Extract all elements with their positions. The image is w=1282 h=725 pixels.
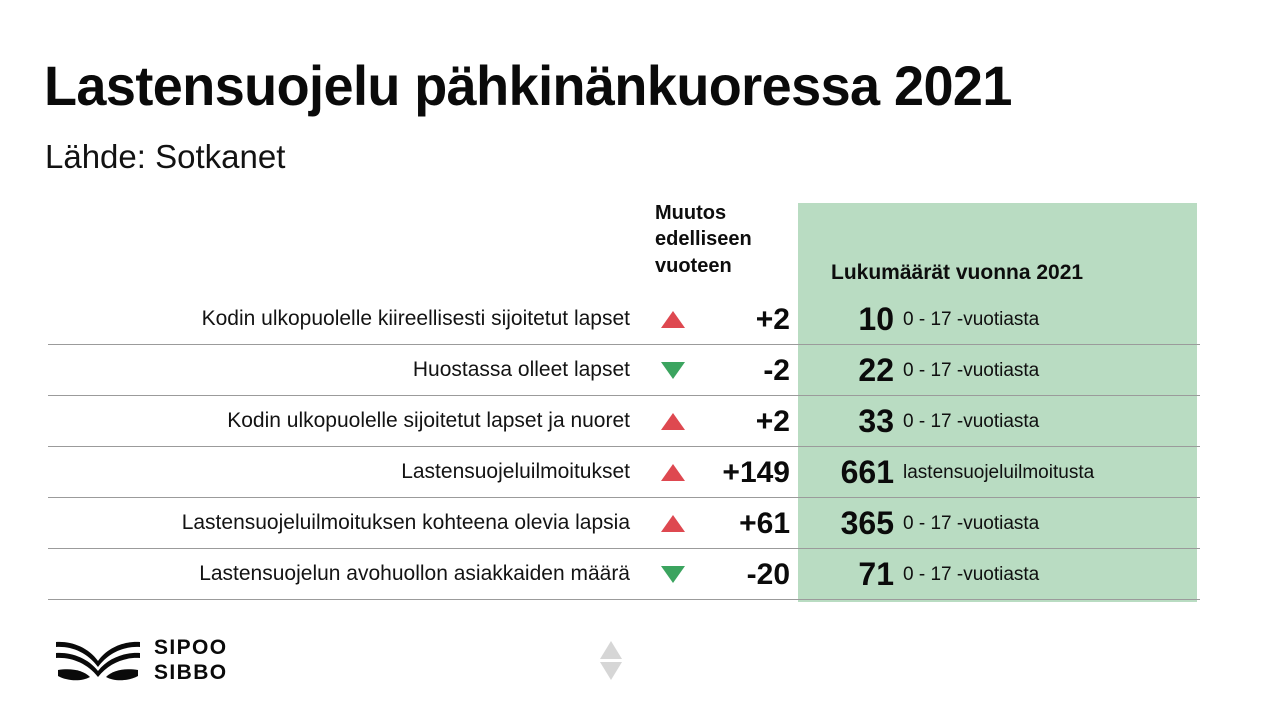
- row-change-value: +61: [630, 498, 790, 549]
- row-label: Huostassa olleet lapset: [60, 345, 630, 396]
- row-change-value: -20: [630, 549, 790, 600]
- row-change-value: +2: [630, 294, 790, 345]
- row-count-value: 22: [800, 345, 894, 396]
- column-header-change-line3: vuoteen: [655, 253, 795, 279]
- sort-updown-icon[interactable]: [596, 641, 626, 681]
- column-header-count: Lukumäärät vuonna 2021: [831, 261, 1083, 285]
- table-row: Lastensuojeluilmoitukset +149 661 lasten…: [0, 447, 1282, 498]
- row-count-value: 71: [800, 549, 894, 600]
- column-header-change-line2: edelliseen: [655, 226, 795, 252]
- sipoo-wave-logo-icon: [55, 637, 141, 685]
- row-divider: [48, 599, 1200, 600]
- sipoo-sibbo-logo: SIPOO SIBBO: [55, 636, 228, 686]
- row-label: Lastensuojeluilmoituksen kohteena olevia…: [60, 498, 630, 549]
- row-label: Lastensuojeluilmoitukset: [60, 447, 630, 498]
- table-row: Huostassa olleet lapset -2 22 0 - 17 -vu…: [0, 345, 1282, 396]
- row-count-value: 10: [800, 294, 894, 345]
- row-unit-label: 0 - 17 -vuotiasta: [903, 498, 1039, 549]
- sort-down-arrow-icon[interactable]: [600, 662, 622, 680]
- row-label: Lastensuojelun avohuollon asiakkaiden mä…: [60, 549, 630, 600]
- row-count-value: 661: [800, 447, 894, 498]
- row-label: Kodin ulkopuolelle sijoitetut lapset ja …: [60, 396, 630, 447]
- row-count-value: 365: [800, 498, 894, 549]
- row-unit-label: lastensuojeluilmoitusta: [903, 447, 1094, 498]
- row-change-value: +2: [630, 396, 790, 447]
- table-row: Kodin ulkopuolelle kiireellisesti sijoit…: [0, 294, 1282, 345]
- logo-wordmark-line2: SIBBO: [154, 661, 228, 686]
- sort-up-arrow-icon[interactable]: [600, 641, 622, 659]
- column-header-change-line1: Muutos: [655, 200, 795, 226]
- row-unit-label: 0 - 17 -vuotiasta: [903, 396, 1039, 447]
- page-title: Lastensuojelu pähkinänkuoressa 2021: [44, 57, 1012, 116]
- row-count-value: 33: [800, 396, 894, 447]
- row-unit-label: 0 - 17 -vuotiasta: [903, 294, 1039, 345]
- logo-wordmark-line1: SIPOO: [154, 636, 228, 661]
- row-unit-label: 0 - 17 -vuotiasta: [903, 345, 1039, 396]
- row-unit-label: 0 - 17 -vuotiasta: [903, 549, 1039, 600]
- table-row: Lastensuojeluilmoituksen kohteena olevia…: [0, 498, 1282, 549]
- logo-wordmark: SIPOO SIBBO: [154, 636, 228, 686]
- column-header-change: Muutos edelliseen vuoteen: [655, 200, 795, 279]
- row-change-value: -2: [630, 345, 790, 396]
- row-change-value: +149: [630, 447, 790, 498]
- table-row: Lastensuojelun avohuollon asiakkaiden mä…: [0, 549, 1282, 600]
- metrics-table: Kodin ulkopuolelle kiireellisesti sijoit…: [0, 294, 1282, 600]
- row-label: Kodin ulkopuolelle kiireellisesti sijoit…: [60, 294, 630, 345]
- page-subtitle-source: Lähde: Sotkanet: [45, 137, 285, 177]
- table-row: Kodin ulkopuolelle sijoitetut lapset ja …: [0, 396, 1282, 447]
